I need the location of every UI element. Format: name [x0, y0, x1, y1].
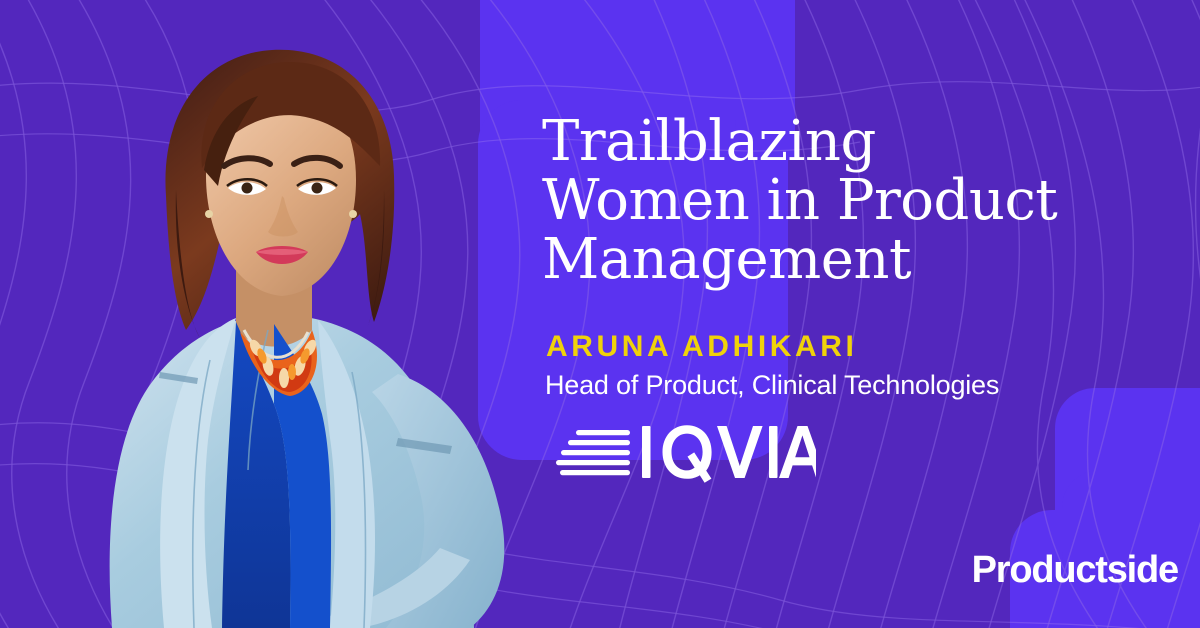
speaker-name: ARUNA ADHIKARI [546, 330, 858, 364]
brand-logo-productside: Productside [972, 549, 1178, 592]
iqvia-bars-icon: TM [554, 424, 816, 484]
speaker-photo [0, 0, 560, 628]
content-column: Trailblazing Women in Product Management… [542, 0, 1182, 628]
promo-banner: Trailblazing Women in Product Management… [0, 0, 1200, 628]
company-logo-iqvia: TM [554, 424, 816, 484]
speaker-role: Head of Product, Clinical Technologies [545, 370, 999, 401]
page-title: Trailblazing Women in Product Management [542, 112, 1162, 289]
